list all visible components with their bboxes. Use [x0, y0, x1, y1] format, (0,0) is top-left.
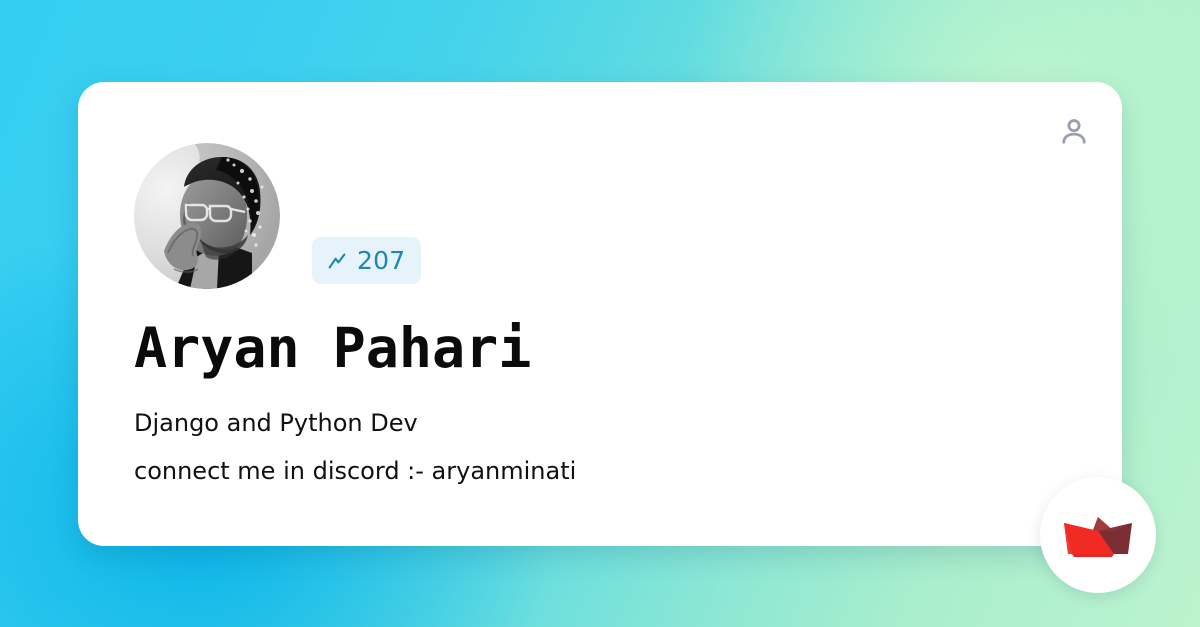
profile-description-line-1: Django and Python Dev: [134, 399, 1034, 447]
identity-row: 207: [134, 143, 421, 289]
page-title: Aryan Pahari: [134, 320, 531, 378]
profile-card: 207 Aryan Pahari Django and Python Dev c…: [78, 82, 1122, 546]
person-icon[interactable]: [1052, 110, 1096, 154]
profile-description: Django and Python Dev connect me in disc…: [134, 399, 1034, 495]
devfolio-crown-logo[interactable]: [1040, 477, 1156, 593]
trending-up-icon: [326, 250, 348, 272]
status-badge: 207: [312, 237, 421, 284]
profile-description-line-2: connect me in discord :- aryanminati: [134, 447, 1034, 495]
avatar: [134, 143, 280, 289]
stat-badge-value: 207: [357, 248, 405, 273]
